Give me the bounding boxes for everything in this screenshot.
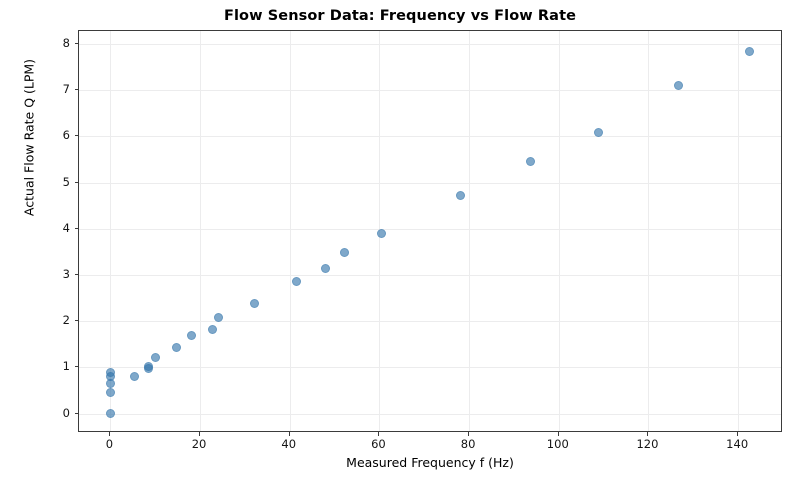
x-tick-label: 0 xyxy=(106,437,113,451)
data-point xyxy=(456,191,465,200)
data-point xyxy=(106,409,115,418)
x-tick-label: 120 xyxy=(636,437,658,451)
gridline-horizontal xyxy=(79,90,781,91)
gridline-horizontal xyxy=(79,136,781,137)
gridline-horizontal xyxy=(79,367,781,368)
gridline-horizontal xyxy=(79,229,781,230)
x-tick-mark xyxy=(737,432,738,436)
gridline-horizontal xyxy=(79,275,781,276)
data-point xyxy=(208,325,217,334)
y-tick-mark xyxy=(75,274,79,275)
x-tick-mark xyxy=(468,432,469,436)
y-tick-mark xyxy=(75,182,79,183)
chart-title: Flow Sensor Data: Frequency vs Flow Rate xyxy=(0,8,800,24)
y-tick-mark xyxy=(75,413,79,414)
data-point xyxy=(106,388,115,397)
y-tick-mark xyxy=(75,320,79,321)
data-point xyxy=(321,264,330,273)
x-tick-label: 40 xyxy=(281,437,296,451)
y-tick-label: 4 xyxy=(63,221,70,235)
x-tick-mark xyxy=(199,432,200,436)
y-tick-mark xyxy=(75,43,79,44)
x-tick-label: 60 xyxy=(371,437,386,451)
x-tick-label: 80 xyxy=(461,437,476,451)
x-tick-label: 100 xyxy=(547,437,569,451)
data-point xyxy=(674,81,683,90)
y-tick-label: 6 xyxy=(63,128,70,142)
y-tick-mark xyxy=(75,89,79,90)
data-point xyxy=(214,313,223,322)
data-point xyxy=(340,248,349,257)
data-point xyxy=(130,372,139,381)
y-axis-label: Actual Flow Rate Q (LPM) xyxy=(22,0,37,339)
chart-figure: Flow Sensor Data: Frequency vs Flow Rate… xyxy=(0,0,800,480)
gridline-horizontal xyxy=(79,321,781,322)
y-tick-label: 0 xyxy=(63,406,70,420)
data-point xyxy=(151,353,160,362)
data-point xyxy=(745,47,754,56)
data-point xyxy=(172,343,181,352)
data-point xyxy=(594,128,603,137)
gridline-horizontal xyxy=(79,44,781,45)
y-tick-label: 3 xyxy=(63,267,70,281)
x-tick-label: 140 xyxy=(726,437,748,451)
x-tick-mark xyxy=(378,432,379,436)
gridline-horizontal xyxy=(79,183,781,184)
y-tick-mark xyxy=(75,228,79,229)
plot-area xyxy=(78,30,782,432)
y-tick-label: 8 xyxy=(63,36,70,50)
x-tick-mark xyxy=(558,432,559,436)
y-tick-label: 5 xyxy=(63,175,70,189)
data-point xyxy=(250,299,259,308)
x-tick-mark xyxy=(109,432,110,436)
data-point xyxy=(526,157,535,166)
x-tick-mark xyxy=(289,432,290,436)
y-tick-label: 2 xyxy=(63,313,70,327)
y-tick-mark xyxy=(75,366,79,367)
data-point xyxy=(187,331,196,340)
y-tick-mark xyxy=(75,135,79,136)
y-tick-label: 7 xyxy=(63,82,70,96)
x-axis-label: Measured Frequency f (Hz) xyxy=(78,455,782,470)
y-tick-label: 1 xyxy=(63,359,70,373)
data-point xyxy=(292,277,301,286)
gridline-horizontal xyxy=(79,414,781,415)
x-tick-label: 20 xyxy=(192,437,207,451)
data-point xyxy=(377,229,386,238)
x-tick-mark xyxy=(647,432,648,436)
